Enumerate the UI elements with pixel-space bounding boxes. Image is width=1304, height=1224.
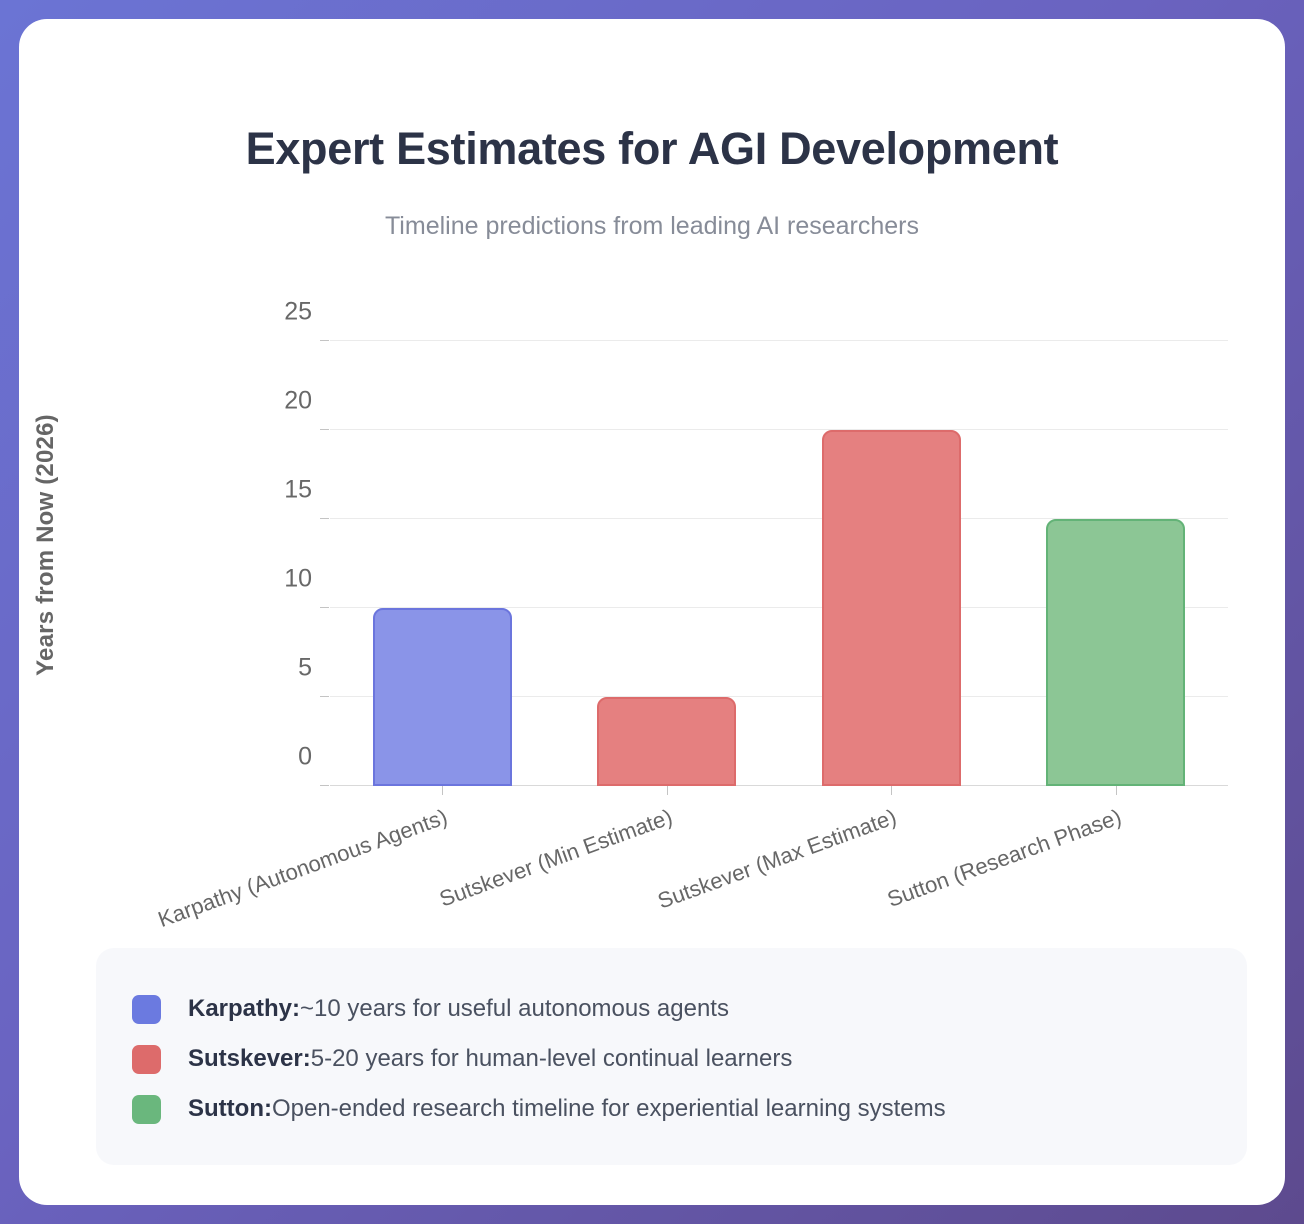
bar-0[interactable] [373,608,512,786]
legend-description: 5-20 years for human-level continual lea… [311,1045,793,1072]
legend-panel: Karpathy:~10 years for useful autonomous… [96,948,1247,1165]
y-tick-label: 0 [298,743,312,772]
y-tick-label: 25 [284,298,312,327]
legend-researcher-name: Sutskever: [188,1045,311,1072]
x-tick-label: Sutton (Research Phase) [884,804,1125,913]
legend-description: Open-ended research timeline for experie… [272,1095,946,1122]
bar-1[interactable] [597,697,736,786]
x-tick-label: Karpathy (Autonomous Agents) [155,804,451,933]
legend-color-swatch [132,995,161,1024]
chart-subtitle: Timeline predictions from leading AI res… [19,212,1285,241]
legend-row: Sutskever:5-20 years for human-level con… [132,1034,1247,1084]
page-title: Expert Estimates for AGI Development [19,123,1285,175]
plot-container: Years from Now (2026) 0510152025 Karpath… [19,319,1285,899]
bar-3[interactable] [1046,519,1185,786]
y-tick-mark [320,429,329,430]
y-tick-label: 5 [298,654,312,683]
legend-text: Sutton:Open-ended research timeline for … [188,1095,946,1123]
x-tick-mark [442,786,443,795]
legend-row: Sutton:Open-ended research timeline for … [132,1084,1247,1134]
legend-researcher-name: Karpathy: [188,995,300,1022]
legend-researcher-name: Sutton: [188,1095,272,1122]
legend-row: Karpathy:~10 years for useful autonomous… [132,984,1247,1034]
plot-area: 0510152025 Karpathy (Autonomous Agents)S… [330,341,1228,786]
bar-2[interactable] [822,430,961,786]
y-tick-mark [320,607,329,608]
y-tick-mark [320,785,329,786]
legend-description: ~10 years for useful autonomous agents [300,995,729,1022]
y-tick-mark [320,696,329,697]
y-tick-label: 10 [284,565,312,594]
legend-text: Karpathy:~10 years for useful autonomous… [188,995,729,1023]
x-tick-mark [1116,786,1117,795]
y-axis-title: Years from Now (2026) [32,375,60,715]
y-tick-mark [320,340,329,341]
x-tick-mark [891,786,892,795]
y-tick-mark [320,518,329,519]
x-tick-label: Sutskever (Min Estimate) [436,804,676,912]
bars-group [330,341,1228,786]
legend-text: Sutskever:5-20 years for human-level con… [188,1045,792,1073]
x-tick-mark [667,786,668,795]
chart-card: Expert Estimates for AGI Development Tim… [19,19,1285,1205]
x-tick-label: Sutskever (Max Estimate) [655,804,901,915]
y-tick-label: 20 [284,387,312,416]
legend-color-swatch [132,1095,161,1124]
y-tick-label: 15 [284,476,312,505]
legend-color-swatch [132,1045,161,1074]
